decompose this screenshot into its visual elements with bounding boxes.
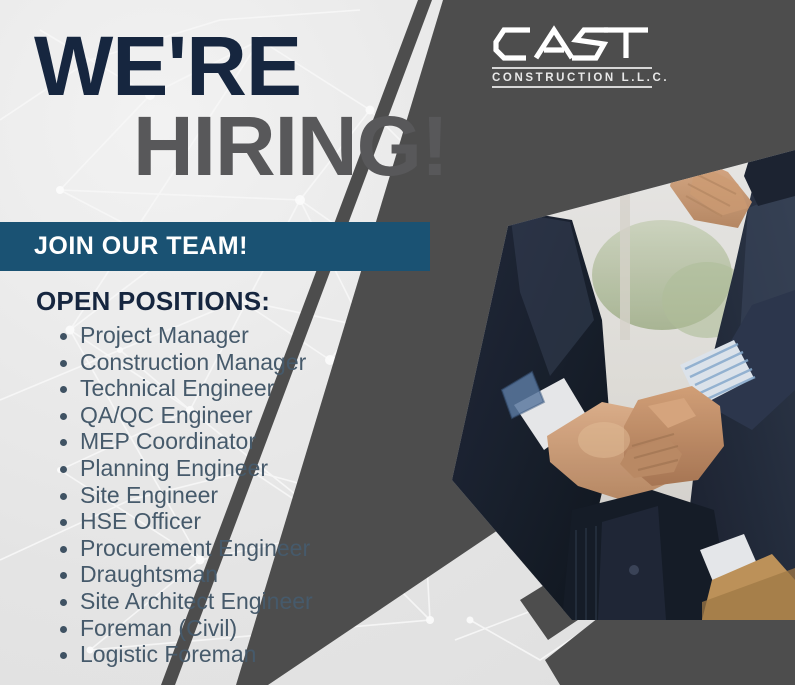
position-list-item: Site Engineer xyxy=(80,482,480,509)
position-list-item: HSE Officer xyxy=(80,508,480,535)
position-list-item: Draughtsman xyxy=(80,561,480,588)
join-our-team-label: JOIN OUR TEAM! xyxy=(0,232,248,261)
headline-line-1: WE'RE xyxy=(34,27,454,107)
hiring-poster: CONSTRUCTION L.L.C. WE'RE HIRING! JOIN O… xyxy=(0,0,795,685)
position-list-item: Construction Manager xyxy=(80,349,480,376)
position-list-item: Foreman (Civil) xyxy=(80,615,480,642)
position-list-item: Procurement Engineer xyxy=(80,535,480,562)
headline: WE'RE HIRING! xyxy=(34,27,454,187)
logo-subtitle: CONSTRUCTION L.L.C. xyxy=(492,69,652,86)
logo-subtitle-block: CONSTRUCTION L.L.C. xyxy=(492,67,652,88)
logo-rule-bottom xyxy=(492,86,652,88)
position-list-item: Planning Engineer xyxy=(80,455,480,482)
position-list-item: MEP Coordinator xyxy=(80,428,480,455)
position-list-item: Logistic Foreman xyxy=(80,641,480,668)
cast-wordmark-icon xyxy=(492,24,652,64)
position-list-item: Project Manager xyxy=(80,322,480,349)
headline-line-2: HIRING! xyxy=(34,107,454,187)
position-list-item: Site Architect Engineer xyxy=(80,588,480,615)
position-list-item: QA/QC Engineer xyxy=(80,402,480,429)
join-our-team-banner: JOIN OUR TEAM! xyxy=(0,222,430,271)
cast-logo: CONSTRUCTION L.L.C. xyxy=(492,24,652,88)
open-positions-list: Project ManagerConstruction ManagerTechn… xyxy=(52,322,480,668)
open-positions-heading: OPEN POSITIONS: xyxy=(36,286,270,317)
position-list-item: Technical Engineer xyxy=(80,375,480,402)
